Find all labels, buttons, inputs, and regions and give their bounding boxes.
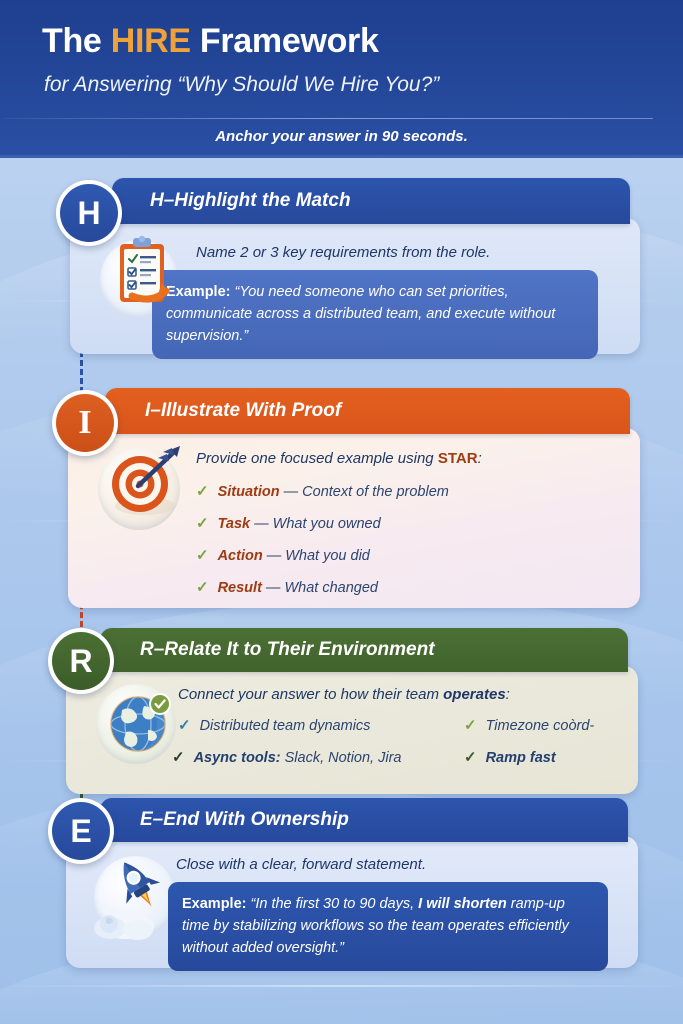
step-r-bullet-ramp: ✓ Ramp fast <box>464 748 556 766</box>
step-h-header: H–Highlight the Match <box>112 178 630 224</box>
bullet-keyword: Situation <box>218 484 280 500</box>
step-e-lead: Close with a clear, forward statement. <box>176 856 426 873</box>
check-icon: ✓ <box>464 748 477 766</box>
step-e-example-label: Example: <box>182 896 246 912</box>
page-title: The HIRE Framework <box>42 22 379 61</box>
step-i-bullet-situation: ✓ Situation — Context of the problem <box>196 482 449 500</box>
bullet-keyword: Async tools: <box>194 750 281 766</box>
globe-check-icon <box>100 680 182 762</box>
step-i-lead-keyword: STAR <box>438 450 478 467</box>
bullet-keyword: Result <box>218 580 262 596</box>
bullet-keyword: Task <box>218 516 251 532</box>
step-r-lead-pre: Connect your answer to how their team <box>178 686 443 703</box>
step-i-bullet-action: ✓ Action — What you did <box>196 546 370 564</box>
header-divider <box>3 118 653 119</box>
step-card-e[interactable]: E–End With Ownership E Close with a clea… <box>0 798 683 974</box>
step-r-lead-keyword: operates <box>443 686 506 703</box>
page-subtitle: for Answering “Why Should We Hire You?” <box>44 73 439 97</box>
step-i-bullet-task: ✓ Task — What you owned <box>196 514 381 532</box>
step-i-lead-pre: Provide one focused example using <box>196 450 438 467</box>
step-card-h[interactable]: H–Highlight the Match H Name 2 or 3 key … <box>0 178 683 368</box>
step-card-r[interactable]: R–Relate It to Their Environment R Conne… <box>0 628 683 800</box>
step-e-example-emphasis: I will shorten <box>418 896 507 912</box>
step-e-example-pre: “In the first 30 to 90 days, <box>246 896 418 912</box>
background-streak <box>0 985 683 987</box>
step-r-lead: Connect your answer to how their team op… <box>178 686 510 703</box>
step-badge-letter-h: H <box>60 184 118 242</box>
target-arrow-icon <box>100 440 186 526</box>
step-card-i[interactable]: I–Illustrate With Proof I Provide one fo… <box>0 388 683 620</box>
bullet-tail: — What changed <box>262 580 378 596</box>
bullet-keyword: Action <box>218 548 263 564</box>
step-i-lead-post: : <box>478 450 482 467</box>
step-r-bullet-timezone: ✓ Timezone coòrd- <box>464 716 594 734</box>
bullet-tail: Distributed team dynamics <box>200 718 371 734</box>
step-i-lead: Provide one focused example using STAR: <box>196 450 482 467</box>
step-r-bullet-async: ✓ Async tools: Slack, Notion, Jira <box>172 748 401 766</box>
step-r-lead-post: : <box>506 686 510 703</box>
title-part-the: The <box>42 22 111 60</box>
step-i-bullet-result: ✓ Result — What changed <box>196 578 378 596</box>
bullet-tail: — What you did <box>263 548 370 564</box>
step-e-title: E–End With Ownership <box>140 809 349 831</box>
step-r-title: R–Relate It to Their Environment <box>140 639 435 661</box>
check-icon: ✓ <box>196 482 209 500</box>
clipboard-checklist-icon <box>112 234 172 310</box>
page-header: The HIRE Framework for Answering “Why Sh… <box>0 0 683 158</box>
bullet-tail: — What you owned <box>250 516 381 532</box>
header-note: Anchor your answer in 90 seconds. <box>0 128 683 145</box>
step-h-example-box: Example: “You need someone who can set p… <box>152 270 598 359</box>
check-icon: ✓ <box>196 578 209 596</box>
step-h-example-label: Example: <box>166 284 230 300</box>
title-accent-hire: HIRE <box>111 22 191 60</box>
bullet-tail: Slack, Notion, Jira <box>281 750 402 766</box>
title-part-framework: Framework <box>191 22 379 60</box>
step-h-lead: Name 2 or 3 key requirements from the ro… <box>196 244 490 261</box>
step-e-example-box: Example: “In the first 30 to 90 days, I … <box>168 882 608 971</box>
bullet-tail: Timezone coòrd- <box>486 718 595 734</box>
check-icon: ✓ <box>196 546 209 564</box>
step-r-bullet-distributed: ✓ Distributed team dynamics <box>178 716 370 734</box>
step-h-title: H–Highlight the Match <box>150 190 351 212</box>
check-icon: ✓ <box>464 716 477 734</box>
step-e-header: E–End With Ownership <box>100 798 628 842</box>
step-i-header: I–Illustrate With Proof <box>105 388 630 434</box>
rocket-icon <box>92 848 184 944</box>
step-i-title: I–Illustrate With Proof <box>145 400 341 422</box>
check-icon: ✓ <box>196 514 209 532</box>
step-r-header: R–Relate It to Their Environment <box>100 628 628 672</box>
bullet-keyword: Ramp fast <box>486 750 556 766</box>
bullet-tail: — Context of the problem <box>280 484 449 500</box>
